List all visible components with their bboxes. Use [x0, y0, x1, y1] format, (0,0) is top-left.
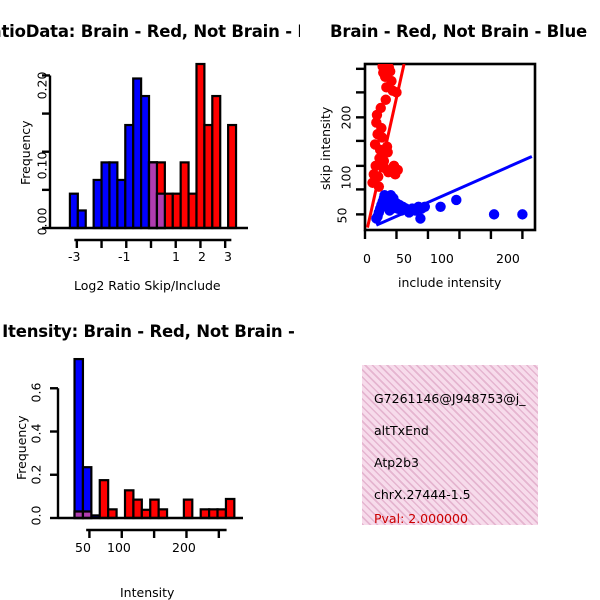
histogram-bar [165, 194, 173, 228]
y-tick-0p2: 0.2 [28, 465, 43, 485]
scatter-point [420, 202, 430, 212]
scatter-point [385, 66, 395, 76]
y-tick-0p0: 0.0 [28, 506, 43, 526]
histogram-bar [108, 509, 116, 518]
histogram-bar [117, 180, 125, 228]
histogram-bar [94, 180, 102, 228]
scatter-point [415, 213, 425, 223]
scatter-point [382, 147, 392, 157]
histogram-bar [204, 125, 212, 228]
x-tick-100: 100 [107, 540, 131, 555]
y-tick-0p4: 0.4 [28, 424, 43, 444]
histogram-bar [70, 194, 78, 228]
x-axis-title-include-intensity: include intensity [398, 275, 501, 290]
x-tick-0: 0 [363, 251, 371, 266]
x-tick-neg1: -1 [118, 249, 130, 264]
scatter-point [489, 209, 499, 219]
histogram-bar [209, 509, 217, 518]
histogram-bar [141, 96, 149, 228]
histogram-bar [133, 500, 141, 518]
histogram-bars [70, 64, 236, 228]
panel-ratio-histogram: RatioData: Brain - Red, Not Brain - Blu … [0, 0, 300, 300]
histogram-bar [150, 500, 158, 518]
histogram-bar [125, 125, 133, 228]
x-axis-title-intensity: Intensity [120, 585, 174, 600]
x-tick-100: 100 [430, 251, 454, 266]
event-info-box: G7261146@J948753@j_ altTxEnd Atp2b3 chrX… [362, 365, 538, 525]
info-locus: chrX.27444-1.5 [374, 487, 471, 502]
info-gene-name: Atp2b3 [374, 455, 419, 470]
histogram-bar [100, 480, 108, 518]
x-tick-200: 200 [172, 540, 196, 555]
histogram-bar [201, 509, 209, 518]
histogram-bar [196, 64, 204, 228]
x-tick-neg3: -3 [68, 249, 80, 264]
histogram-bar [212, 96, 220, 228]
x-tick-200: 200 [496, 251, 520, 266]
x-axis-title-log2-ratio: Log2 Ratio Skip/Include [74, 278, 221, 293]
histogram-bar [78, 210, 86, 228]
panel-intensity-histogram: ne Itensity: Brain - Red, Not Brain - B … [0, 300, 300, 600]
y-axis-title-skip-intensity: skip intensity [318, 107, 333, 190]
panel-title-ratio-histogram: RatioData: Brain - Red, Not Brain - Blu [0, 22, 300, 41]
scatter-point [374, 181, 384, 191]
y-tick-0p6: 0.6 [28, 383, 43, 403]
figure-canvas: RatioData: Brain - Red, Not Brain - Blu … [0, 0, 600, 600]
plot-area-ratio-histogram [0, 0, 300, 300]
histogram-bar [142, 510, 150, 518]
y-axis-title-frequency-intensity: Frequency [14, 415, 29, 480]
histogram-bar [226, 499, 234, 518]
panel-event-info: G7261146@J948753@j_ altTxEnd Atp2b3 chrX… [300, 300, 600, 600]
info-event-id: G7261146@J948753@j_ [374, 391, 525, 406]
histogram-bar [159, 509, 167, 518]
scatter-point [393, 165, 403, 175]
scatter-point [377, 132, 387, 142]
histogram-bar-overlap [157, 194, 165, 228]
x-tick-2: 2 [198, 249, 206, 264]
y-tick-4: 0.20 [34, 72, 49, 100]
x-tick-50: 50 [75, 540, 91, 555]
histogram-bar [228, 125, 236, 228]
histogram-bar [218, 509, 226, 518]
scatter-point [376, 123, 386, 133]
histogram-bar [133, 78, 141, 228]
histogram-bar [181, 162, 189, 228]
y-tick-100: 100 [338, 166, 353, 190]
scatter-point [517, 209, 527, 219]
y-tick-2: 0.10 [34, 152, 49, 180]
histogram-bar [125, 490, 133, 518]
info-event-type: altTxEnd [374, 423, 429, 438]
panel-title-intensity-histogram: ne Itensity: Brain - Red, Not Brain - B [0, 322, 300, 341]
scatter-point [386, 76, 396, 86]
scatter-point [381, 95, 391, 105]
plot-area-intensity-histogram [0, 300, 300, 600]
x-tick-50: 50 [396, 251, 412, 266]
scatter-point [451, 195, 461, 205]
scatter-point [391, 87, 401, 97]
histogram-bar [109, 162, 117, 228]
y-tick-200: 200 [338, 106, 353, 130]
x-tick-1: 1 [172, 249, 180, 264]
panel-intensity-scatter: Brain - Red, Not Brain - Blue skip inten… [300, 0, 600, 300]
scatter-point [373, 171, 383, 181]
histogram-bar [75, 359, 83, 518]
info-pvalue: Pval: 2.000000 [374, 511, 468, 525]
histogram-bar [184, 500, 192, 518]
scatter-point [435, 202, 445, 212]
y-tick-50: 50 [334, 208, 349, 224]
histogram-bar [102, 162, 110, 228]
y-axis-title-frequency: Frequency [18, 120, 33, 185]
histogram-bar [189, 194, 197, 228]
x-tick-3: 3 [224, 249, 232, 264]
histogram-bars-intensity [75, 359, 235, 518]
y-tick-0: 0.00 [34, 208, 49, 236]
histogram-bar-overlap [149, 162, 157, 228]
panel-title-intensity-scatter: Brain - Red, Not Brain - Blue [330, 22, 587, 41]
histogram-bar [83, 467, 91, 518]
histogram-bar [173, 194, 181, 228]
